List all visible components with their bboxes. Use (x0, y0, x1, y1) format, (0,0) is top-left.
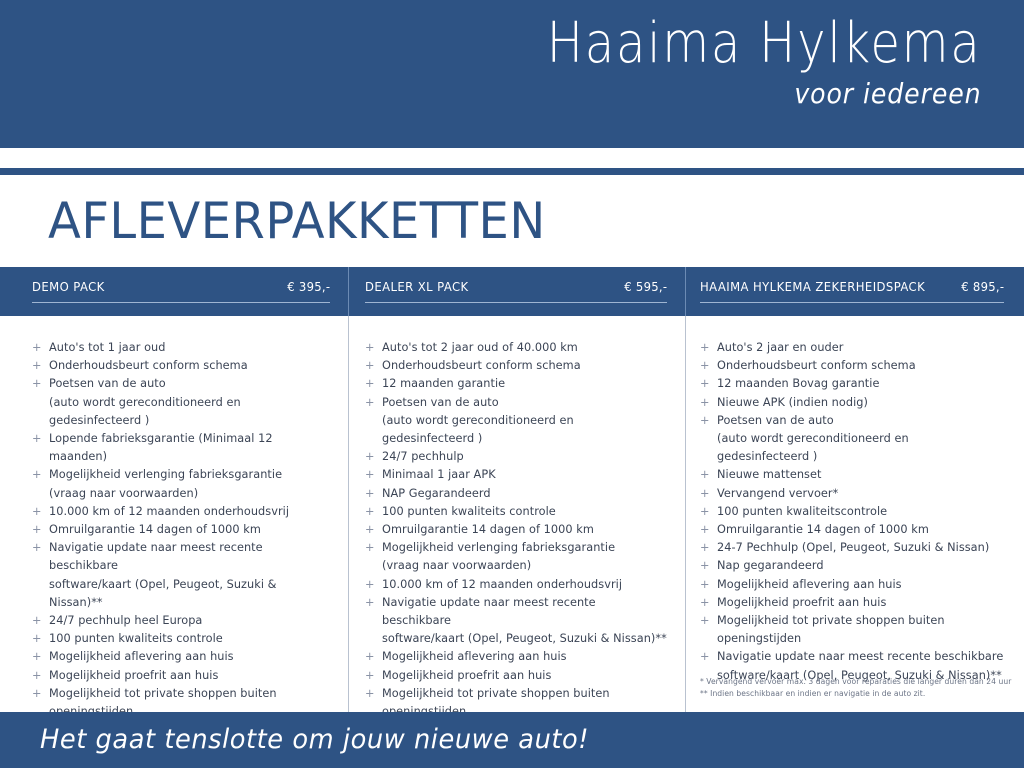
feature-text-continuation: (vraag naar voorwaarden) (382, 557, 667, 575)
feature-text-continuation: (auto wordt gereconditioneerd en gedesin… (717, 430, 1004, 466)
package-name: DEMO PACK (32, 279, 105, 294)
feature-item: +Mogelijkheid proefrit aan huis (32, 667, 326, 685)
feature-text: Lopende fabrieksgarantie (Minimaal 12 ma… (49, 432, 273, 463)
feature-text: Omruilgarantie 14 dagen of 1000 km (717, 523, 929, 536)
feature-item: +100 punten kwaliteitscontrole (700, 503, 1004, 521)
feature-item: +Omruilgarantie 14 dagen of 1000 km (700, 521, 1004, 539)
feature-text: 10.000 km of 12 maanden onderhoudsvrij (49, 505, 289, 518)
brand-block: Haaima Hylkema voor iedereen (476, 12, 982, 110)
package-header-underline (32, 302, 330, 303)
feature-list: +Auto's 2 jaar en ouder+Onderhoudsbeurt … (700, 339, 1004, 685)
plus-bullet-icon: + (365, 394, 375, 412)
feature-item: +Poetsen van de auto(auto wordt gerecond… (365, 394, 667, 449)
plus-bullet-icon: + (700, 394, 710, 412)
package-price: € 395,- (287, 279, 330, 294)
title-area: AFLEVERPAKKETTEN (0, 175, 1024, 267)
plus-bullet-icon: + (365, 375, 375, 393)
feature-text: Nieuwe APK (indien nodig) (717, 396, 868, 409)
feature-text: Mogelijkheid verlenging fabrieksgarantie (49, 468, 282, 481)
feature-text: Mogelijkheid aflevering aan huis (717, 578, 902, 591)
feature-item: +Minimaal 1 jaar APK (365, 466, 667, 484)
feature-text: Auto's tot 1 jaar oud (49, 341, 165, 354)
feature-item: +Mogelijkheid aflevering aan huis (365, 648, 667, 666)
feature-list: +Auto's tot 2 jaar oud of 40.000 km+Onde… (365, 339, 667, 721)
feature-text: Mogelijkheid proefrit aan huis (382, 669, 551, 682)
plus-bullet-icon: + (365, 357, 375, 375)
plus-bullet-icon: + (700, 503, 710, 521)
feature-text: Navigatie update naar meest recente besc… (717, 650, 1003, 663)
feature-item: +Omruilgarantie 14 dagen of 1000 km (365, 521, 667, 539)
plus-bullet-icon: + (32, 667, 42, 685)
feature-text-continuation: (auto wordt gereconditioneerd en gedesin… (49, 394, 326, 430)
plus-bullet-icon: + (365, 485, 375, 503)
feature-item: +12 maanden Bovag garantie (700, 375, 1004, 393)
feature-list: +Auto's tot 1 jaar oud+Onderhoudsbeurt c… (32, 339, 326, 721)
plus-bullet-icon: + (700, 339, 710, 357)
feature-text-continuation: software/kaart (Opel, Peugeot, Suzuki & … (382, 630, 667, 648)
feature-item: +Mogelijkheid aflevering aan huis (700, 576, 1004, 594)
feature-text: Mogelijkheid tot private shoppen buiten (382, 687, 610, 700)
feature-text: 12 maanden Bovag garantie (717, 377, 879, 390)
feature-item: +Onderhoudsbeurt conform schema (365, 357, 667, 375)
feature-text: Poetsen van de auto (717, 414, 834, 427)
feature-text: NAP Gegarandeerd (382, 487, 491, 500)
feature-text-continuation: software/kaart (Opel, Peugeot, Suzuki & … (49, 576, 326, 612)
plus-bullet-icon: + (32, 630, 42, 648)
package-column-demo-pack: +Auto's tot 1 jaar oud+Onderhoudsbeurt c… (0, 316, 348, 712)
aflever-packages-page: Haaima Hylkema voor iedereen AFLEVERPAKK… (0, 0, 1024, 768)
feature-text: 100 punten kwaliteits controle (382, 505, 556, 518)
feature-item: +24/7 pechhulp (365, 448, 667, 466)
plus-bullet-icon: + (365, 576, 375, 594)
plus-bullet-icon: + (32, 685, 42, 703)
package-header-demo-pack[interactable]: DEMO PACK € 395,- (0, 267, 348, 316)
feature-item: +Nieuwe mattenset (700, 466, 1004, 484)
feature-text: Minimaal 1 jaar APK (382, 468, 496, 481)
feature-text: Mogelijkheid aflevering aan huis (382, 650, 567, 663)
package-column-zekerheidspack: +Auto's 2 jaar en ouder+Onderhoudsbeurt … (685, 316, 1024, 712)
plus-bullet-icon: + (700, 375, 710, 393)
feature-item: +100 punten kwaliteits controle (365, 503, 667, 521)
feature-text: Vervangend vervoer* (717, 487, 838, 500)
feature-text: Onderhoudsbeurt conform schema (717, 359, 916, 372)
feature-text: Onderhoudsbeurt conform schema (49, 359, 248, 372)
feature-text: Mogelijkheid proefrit aan huis (49, 669, 218, 682)
package-content-columns: +Auto's tot 1 jaar oud+Onderhoudsbeurt c… (0, 316, 1024, 712)
feature-text: 10.000 km of 12 maanden onderhoudsvrij (382, 578, 622, 591)
feature-item: +Poetsen van de auto(auto wordt gerecond… (700, 412, 1004, 467)
feature-text: 100 punten kwaliteitscontrole (717, 505, 887, 518)
feature-text: Nieuwe mattenset (717, 468, 821, 481)
feature-text: Navigatie update naar meest recente besc… (49, 541, 263, 572)
feature-text: Omruilgarantie 14 dagen of 1000 km (382, 523, 594, 536)
footer-slogan: Het gaat tenslotte om jouw nieuwe auto! (40, 720, 589, 760)
feature-text: Nap gegarandeerd (717, 559, 824, 572)
plus-bullet-icon: + (365, 448, 375, 466)
feature-item: +Lopende fabrieksgarantie (Minimaal 12 m… (32, 430, 326, 466)
feature-text-continuation: (auto wordt gereconditioneerd en gedesin… (382, 412, 667, 448)
plus-bullet-icon: + (700, 539, 710, 557)
feature-text: Onderhoudsbeurt conform schema (382, 359, 581, 372)
plus-bullet-icon: + (32, 539, 42, 557)
brand-name: Haaima Hylkema (547, 12, 982, 76)
package-header-underline (365, 302, 667, 303)
feature-text: Mogelijkheid verlenging fabrieksgarantie (382, 541, 615, 554)
plus-bullet-icon: + (32, 521, 42, 539)
header-divider-rule (0, 168, 1024, 175)
feature-item: +Mogelijkheid verlenging fabrieksgaranti… (32, 466, 326, 502)
plus-bullet-icon: + (700, 648, 710, 666)
feature-item: +Navigatie update naar meest recente bes… (365, 594, 667, 649)
footnote-line: ** Indien beschikbaar en indien er navig… (700, 688, 1008, 700)
package-price: € 595,- (624, 279, 667, 294)
feature-item: +12 maanden garantie (365, 375, 667, 393)
plus-bullet-icon: + (32, 648, 42, 666)
feature-item: +Auto's 2 jaar en ouder (700, 339, 1004, 357)
plus-bullet-icon: + (700, 594, 710, 612)
plus-bullet-icon: + (365, 466, 375, 484)
feature-item: +Nieuwe APK (indien nodig) (700, 394, 1004, 412)
feature-item: +Mogelijkheid proefrit aan huis (365, 667, 667, 685)
package-name: DEALER XL PACK (365, 279, 469, 294)
package-header-band: DEMO PACK € 395,- DEALER XL PACK € 595,-… (0, 267, 1024, 316)
feature-text: Auto's tot 2 jaar oud of 40.000 km (382, 341, 578, 354)
plus-bullet-icon: + (365, 521, 375, 539)
feature-item: +10.000 km of 12 maanden onderhoudsvrij (32, 503, 326, 521)
feature-item: +Onderhoudsbeurt conform schema (32, 357, 326, 375)
footnotes: * Vervangend vervoer max. 3 dagen voor r… (700, 676, 1008, 700)
feature-text-continuation: (vraag naar voorwaarden) (49, 485, 326, 503)
plus-bullet-icon: + (32, 612, 42, 630)
plus-bullet-icon: + (365, 667, 375, 685)
plus-bullet-icon: + (700, 576, 710, 594)
feature-text: Mogelijkheid proefrit aan huis (717, 596, 886, 609)
plus-bullet-icon: + (32, 357, 42, 375)
package-header-underline (700, 302, 1004, 303)
plus-bullet-icon: + (700, 466, 710, 484)
plus-bullet-icon: + (365, 339, 375, 357)
feature-item: +24/7 pechhulp heel Europa (32, 612, 326, 630)
feature-item: +Auto's tot 2 jaar oud of 40.000 km (365, 339, 667, 357)
plus-bullet-icon: + (700, 412, 710, 430)
package-header-zekerheidspack[interactable]: HAAIMA HYLKEMA ZEKERHEIDSPACK € 895,- (685, 267, 1024, 316)
package-header-dealer-xl-pack[interactable]: DEALER XL PACK € 595,- (348, 267, 685, 316)
feature-item: +Navigatie update naar meest recente bes… (32, 539, 326, 612)
brand-tagline: voor iedereen (527, 78, 982, 110)
plus-bullet-icon: + (32, 375, 42, 393)
plus-bullet-icon: + (700, 557, 710, 575)
feature-item: +NAP Gegarandeerd (365, 485, 667, 503)
footnote-line: * Vervangend vervoer max. 3 dagen voor r… (700, 676, 1008, 688)
feature-item: +Vervangend vervoer* (700, 485, 1004, 503)
plus-bullet-icon: + (32, 430, 42, 448)
package-name: HAAIMA HYLKEMA ZEKERHEIDSPACK (700, 279, 925, 294)
plus-bullet-icon: + (700, 612, 710, 630)
feature-text-continuation: openingstijden (717, 630, 1004, 648)
feature-item: +Poetsen van de auto(auto wordt gerecond… (32, 375, 326, 430)
feature-text: Mogelijkheid tot private shoppen buiten (49, 687, 277, 700)
feature-text: 24-7 Pechhulp (Opel, Peugeot, Suzuki & N… (717, 541, 989, 554)
plus-bullet-icon: + (365, 594, 375, 612)
feature-text: 24/7 pechhulp heel Europa (49, 614, 202, 627)
plus-bullet-icon: + (32, 503, 42, 521)
feature-item: +Nap gegarandeerd (700, 557, 1004, 575)
plus-bullet-icon: + (700, 521, 710, 539)
plus-bullet-icon: + (700, 485, 710, 503)
feature-item: +10.000 km of 12 maanden onderhoudsvrij (365, 576, 667, 594)
feature-item: +Onderhoudsbeurt conform schema (700, 357, 1004, 375)
feature-text: Mogelijkheid aflevering aan huis (49, 650, 234, 663)
feature-item: +Mogelijkheid aflevering aan huis (32, 648, 326, 666)
feature-text: Poetsen van de auto (49, 377, 166, 390)
plus-bullet-icon: + (32, 466, 42, 484)
plus-bullet-icon: + (365, 648, 375, 666)
feature-item: +100 punten kwaliteits controle (32, 630, 326, 648)
plus-bullet-icon: + (365, 503, 375, 521)
feature-item: +Auto's tot 1 jaar oud (32, 339, 326, 357)
plus-bullet-icon: + (32, 339, 42, 357)
feature-item: +Mogelijkheid proefrit aan huis (700, 594, 1004, 612)
feature-text: Auto's 2 jaar en ouder (717, 341, 843, 354)
feature-item: +Mogelijkheid tot private shoppen buiten… (700, 612, 1004, 648)
feature-text: Mogelijkheid tot private shoppen buiten (717, 614, 945, 627)
plus-bullet-icon: + (700, 357, 710, 375)
top-brand-banner: Haaima Hylkema voor iedereen (0, 0, 1024, 148)
feature-text: Navigatie update naar meest recente besc… (382, 596, 596, 627)
feature-item: +Omruilgarantie 14 dagen of 1000 km (32, 521, 326, 539)
feature-text: Poetsen van de auto (382, 396, 499, 409)
page-title: AFLEVERPAKKETTEN (48, 193, 546, 249)
feature-text: 24/7 pechhulp (382, 450, 464, 463)
package-column-dealer-xl-pack: +Auto's tot 2 jaar oud of 40.000 km+Onde… (348, 316, 685, 712)
bottom-slogan-banner: Het gaat tenslotte om jouw nieuwe auto! (0, 712, 1024, 768)
plus-bullet-icon: + (365, 539, 375, 557)
feature-text: 100 punten kwaliteits controle (49, 632, 223, 645)
plus-bullet-icon: + (365, 685, 375, 703)
feature-item: +Mogelijkheid verlenging fabrieksgaranti… (365, 539, 667, 575)
feature-text: 12 maanden garantie (382, 377, 505, 390)
feature-item: +24-7 Pechhulp (Opel, Peugeot, Suzuki & … (700, 539, 1004, 557)
package-price: € 895,- (961, 279, 1004, 294)
feature-text: Omruilgarantie 14 dagen of 1000 km (49, 523, 261, 536)
